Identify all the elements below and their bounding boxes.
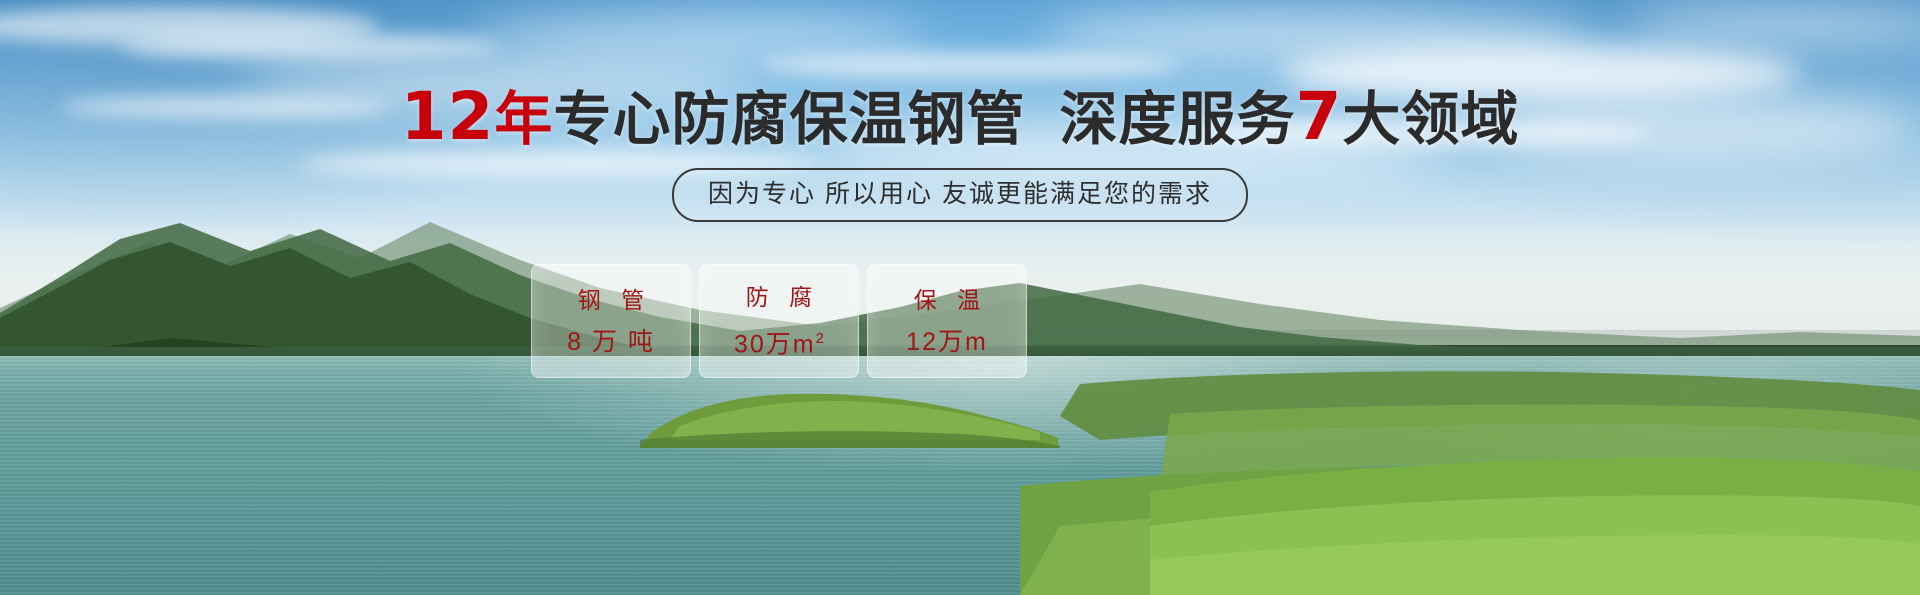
headline-middle-text: 专心防腐保温钢管 [553, 87, 1025, 152]
stat-card-title: 防 腐 [739, 282, 819, 312]
stat-card-value: 12万m [906, 327, 988, 357]
stat-card-insulation[interactable]: 保 温 12万m [867, 264, 1027, 378]
subtitle-pill: 因为专心 所以用心 友诚更能满足您的需求 [672, 168, 1248, 222]
headline-service-text: 深度服务 [1059, 87, 1295, 152]
stat-card-steel-pipe[interactable]: 钢 管 8 万 吨 [531, 264, 691, 378]
stat-card-value-text: 8 万 吨 [567, 328, 655, 356]
stat-card-anticorrosion[interactable]: 防 腐 30万m2 [699, 264, 859, 378]
headline-years-number: 12 [401, 78, 495, 155]
stat-cards: 钢 管 8 万 吨 防 腐 30万m2 保 温 12万m [531, 264, 1041, 376]
stat-card-title: 保 温 [907, 285, 987, 315]
stat-card-value-text: 30万m [734, 331, 816, 359]
headline-years-unit: 年 [494, 87, 553, 152]
stat-card-value: 30万m2 [734, 324, 824, 359]
water-glow [0, 356, 1920, 595]
headline: 12年专心防腐保温钢管深度服务7大领域 [0, 82, 1920, 155]
stat-card-value: 8 万 吨 [567, 327, 655, 357]
headline-fields-text: 大领域 [1342, 87, 1519, 152]
stat-card-title: 钢 管 [571, 285, 651, 315]
promo-banner: 12年专心防腐保温钢管深度服务7大领域 因为专心 所以用心 友诚更能满足您的需求… [0, 0, 1920, 595]
headline-fields-number: 7 [1295, 78, 1342, 155]
subtitle-container: 因为专心 所以用心 友诚更能满足您的需求 [0, 168, 1920, 222]
stat-card-value-text: 12万m [906, 328, 988, 356]
stat-card-value-superscript: 2 [816, 330, 824, 347]
